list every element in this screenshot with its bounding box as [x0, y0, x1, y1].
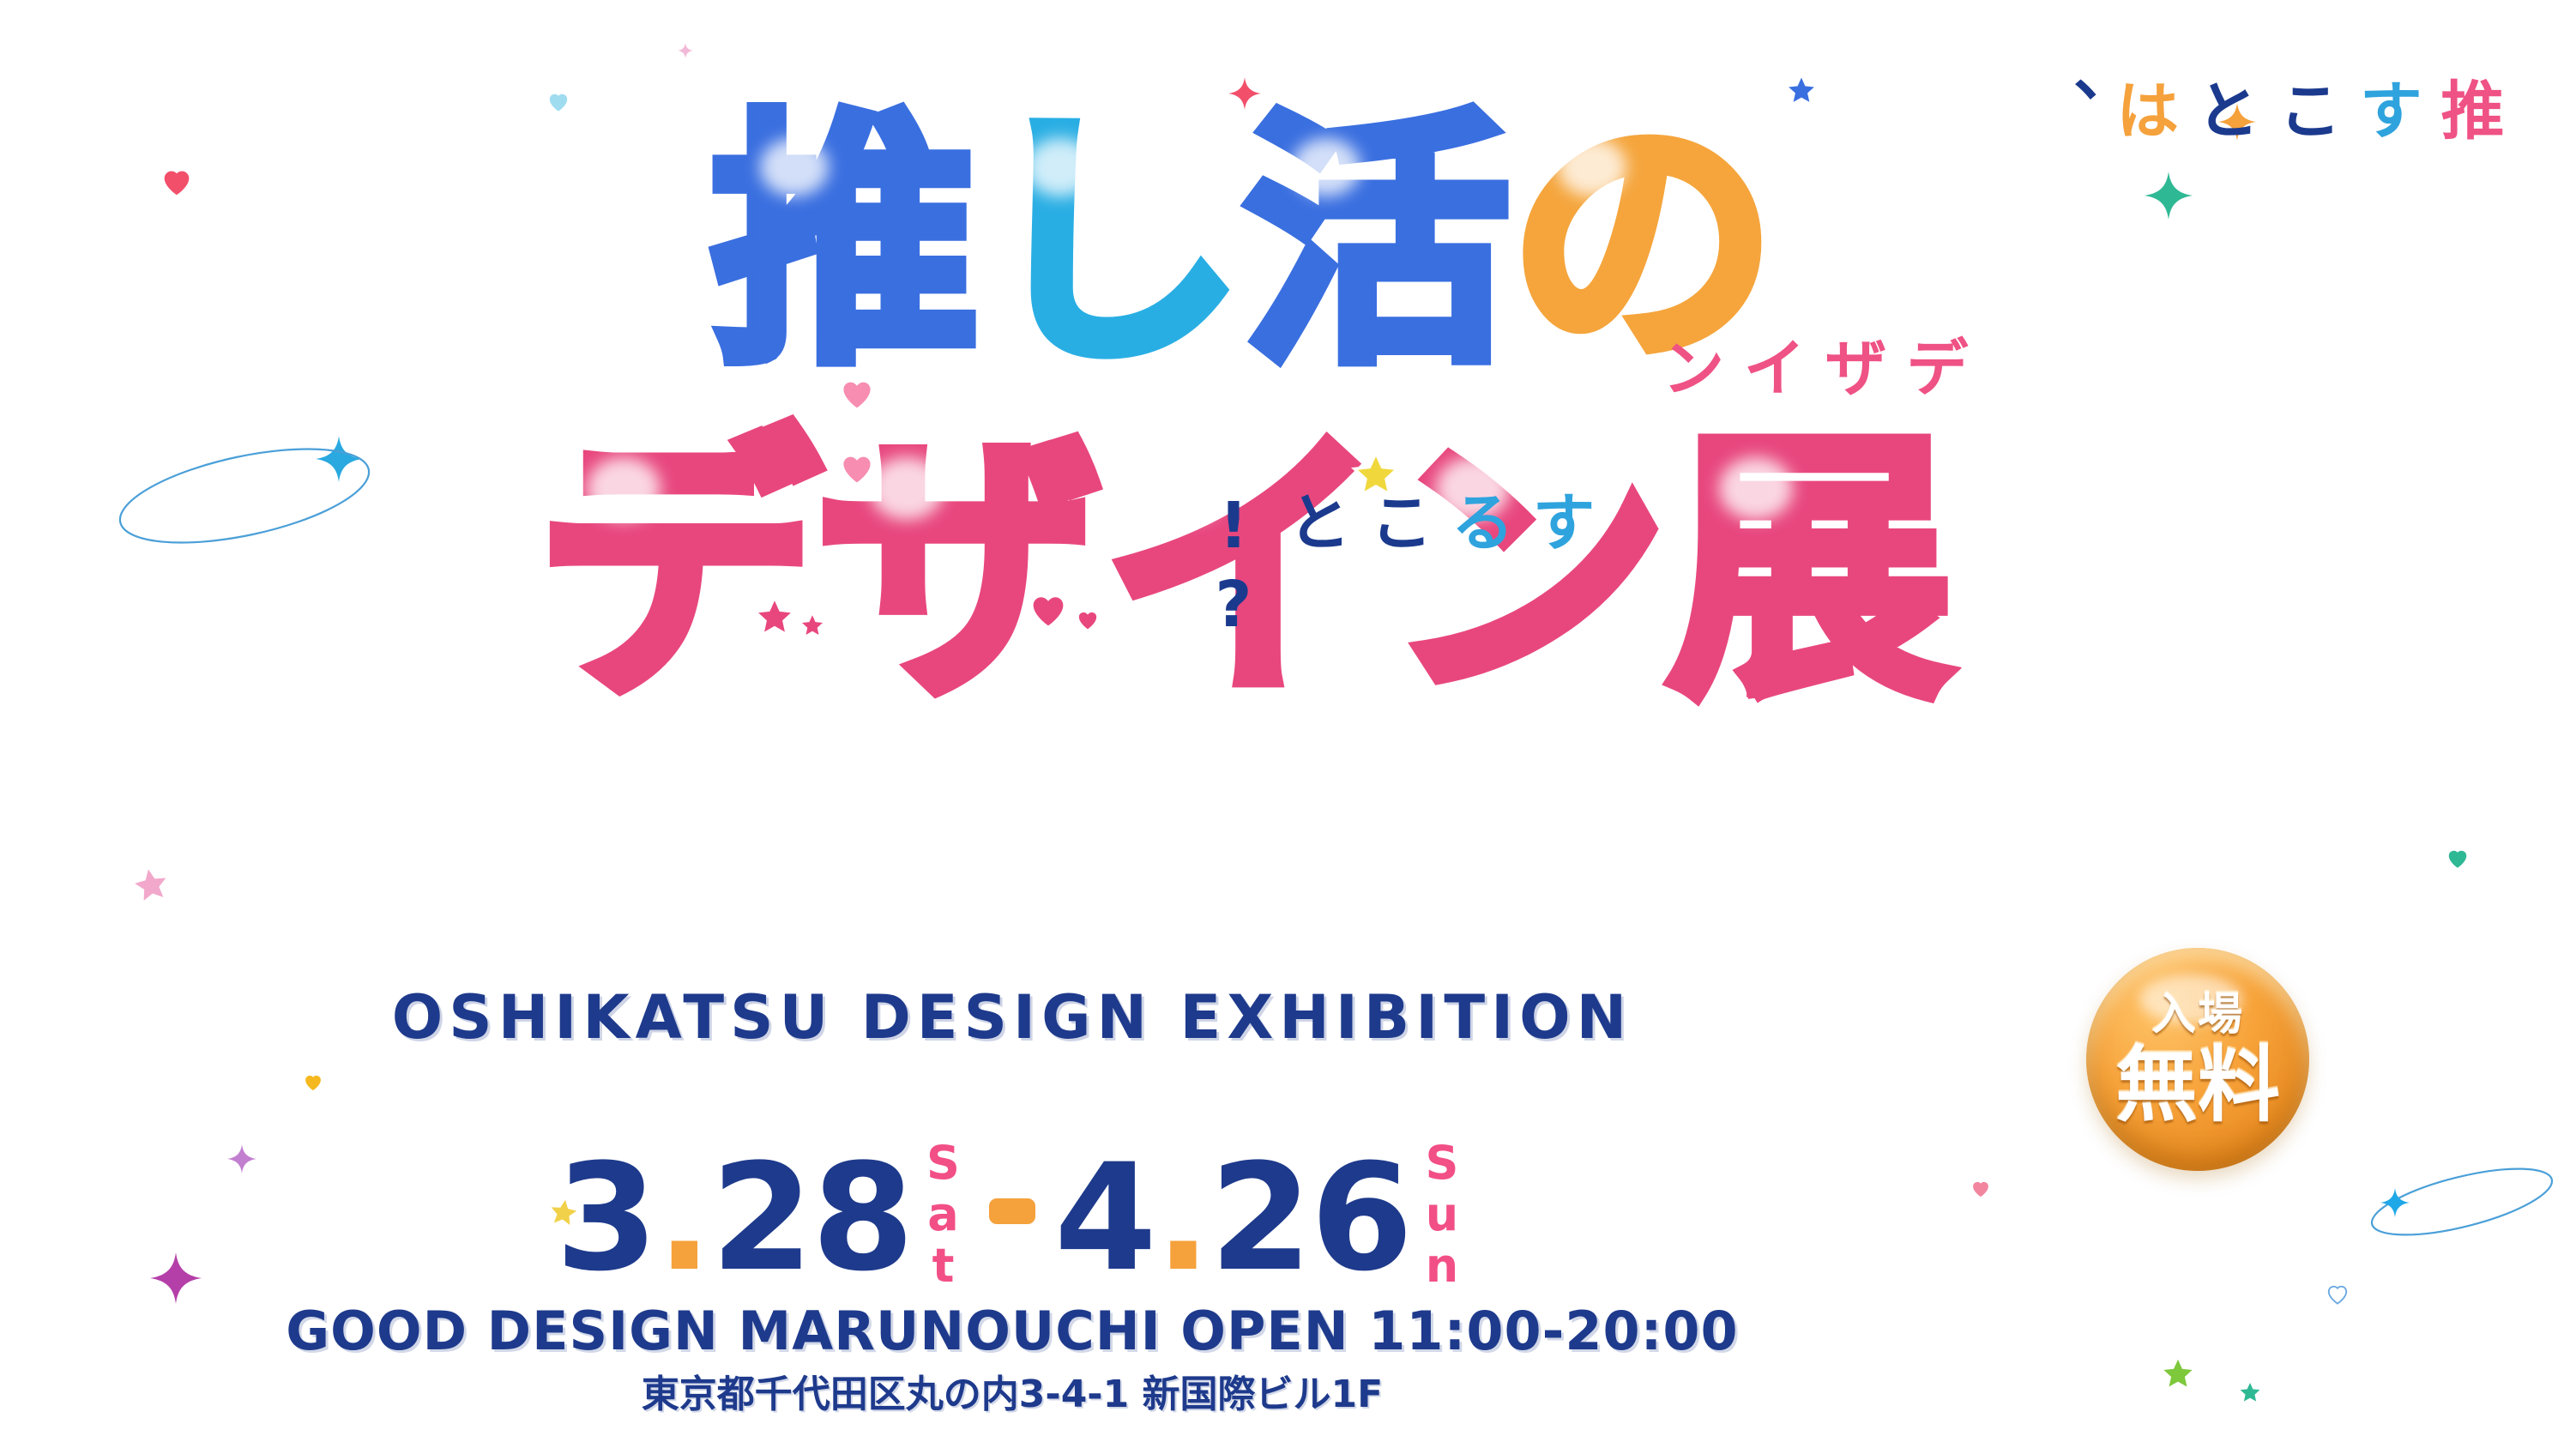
start-date: 3.28 — [556, 1144, 913, 1292]
end-date-value: 4.26 — [1054, 1131, 1411, 1304]
ring-ellipse — [110, 429, 378, 563]
tagline-column-2: デザイン — [1647, 335, 1972, 647]
badge-main-text: 無料 — [2115, 1044, 2280, 1126]
free-admission-badge: 入場 無料 — [2086, 948, 2309, 1171]
poster-canvas: 推推推推推ししししし活活活活活ののののの デデデデデザザザザザイイイイインンンン… — [0, 0, 2576, 1448]
tagline-column-3: すること!? — [1192, 489, 1599, 647]
star-icon — [2239, 1381, 2261, 1403]
heart-outline-icon — [2325, 1281, 2350, 1306]
badge-top-text: 入場 — [2151, 992, 2244, 1037]
tagline-char: ザ — [1809, 335, 1891, 647]
logo-char-デ: デデデデデ — [536, 429, 819, 712]
tagline-char: こ — [2264, 77, 2345, 647]
star-icon — [2162, 1357, 2194, 1390]
tagline-column-1: 推すことは、 — [2020, 77, 2507, 647]
tagline-char: 推 — [2426, 77, 2507, 647]
heart-icon — [2445, 845, 2470, 871]
logo-char-ザ: ザザザザザ — [819, 429, 1102, 712]
start-date-value: 3.28 — [556, 1131, 913, 1304]
tagline-char: デ — [1891, 335, 1972, 647]
tagline-char: る — [1436, 489, 1517, 647]
tagline-char: す — [1517, 489, 1599, 647]
logo-char-推: 推推推推推 — [712, 112, 978, 377]
logo-char-body: デ — [536, 429, 819, 712]
logo-char-body: ザ — [819, 429, 1102, 712]
tagline-char: ン — [1647, 335, 1728, 647]
sparkle-icon — [2380, 1188, 2410, 1217]
date-range: 3.28Sat4.26Sun — [0, 1141, 2024, 1295]
tagline-char: と — [1274, 489, 1355, 647]
start-day-label: Sat — [920, 1136, 967, 1290]
tagline-char: は — [2101, 77, 2182, 647]
tagline-char: す — [2345, 77, 2427, 647]
tagline-char: こ — [1355, 489, 1437, 647]
star-icon — [130, 864, 172, 906]
venue-line: GOOD DESIGN MARUNOUCHI OPEN 11:00-20:00 — [0, 1300, 2024, 1362]
sparkle-icon — [678, 43, 693, 58]
heart-icon — [159, 163, 195, 199]
tagline-char: 、 — [2020, 77, 2102, 647]
vertical-tagline: 推すことは、 デザイン すること!? — [1192, 77, 2507, 647]
date-separator — [989, 1198, 1035, 1224]
subtitle: OSHIKATSU DESIGN EXHIBITION — [0, 982, 2024, 1053]
tagline-char: イ — [1728, 335, 1810, 647]
ring-ellipse — [2364, 1153, 2560, 1250]
heart-icon — [302, 1071, 324, 1093]
end-date: 4.26 — [1054, 1144, 1411, 1292]
logo-char-body: 推 — [712, 112, 978, 377]
tagline-char: と — [2182, 77, 2264, 647]
sparkle-icon — [316, 436, 362, 482]
heart-icon — [546, 88, 571, 114]
end-day-label: Sun — [1418, 1136, 1465, 1290]
tagline-char: !? — [1192, 489, 1274, 647]
address-line: 東京都千代田区丸の内3-4-1 新国際ビル1F — [0, 1363, 2024, 1418]
